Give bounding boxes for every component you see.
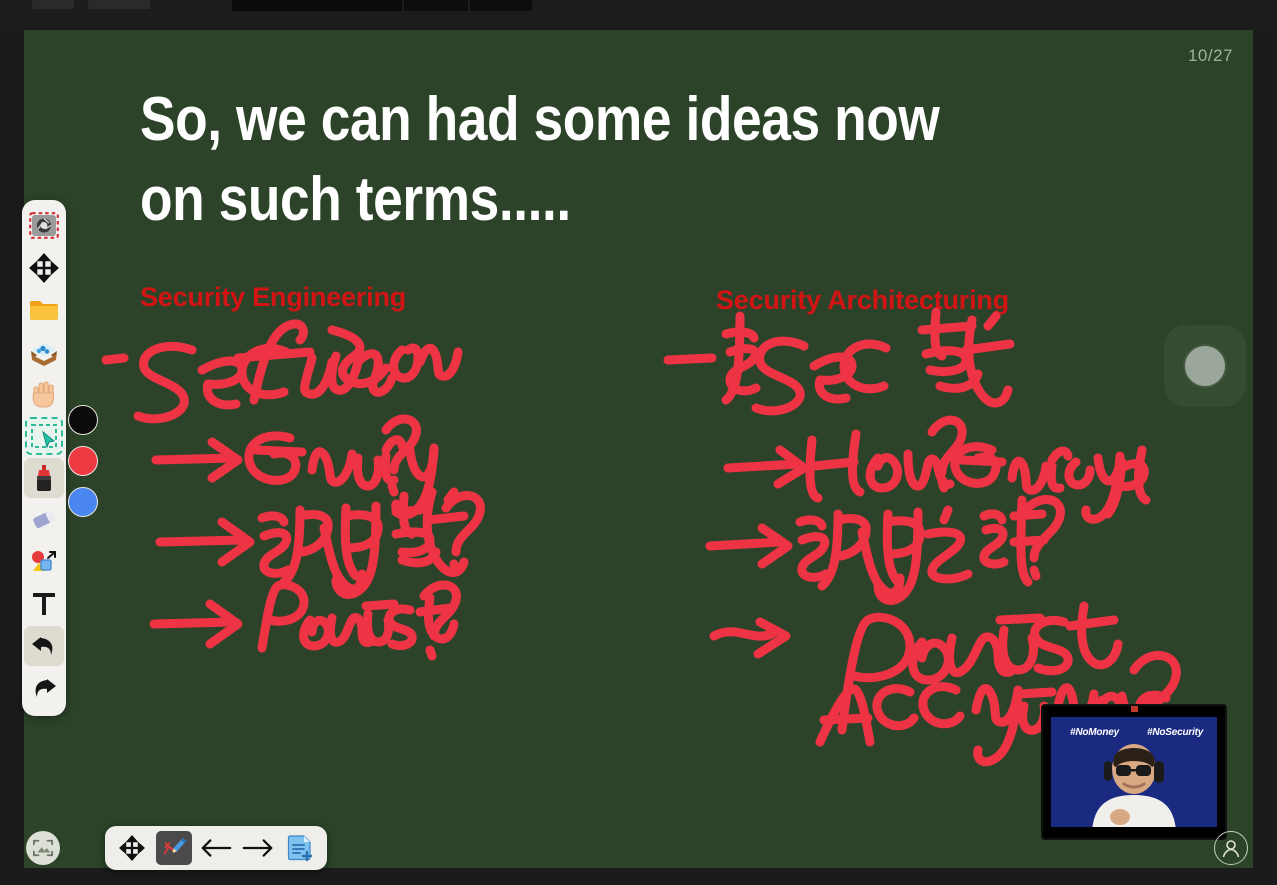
marker-pen-icon [31, 463, 57, 493]
camera-aperture-icon [29, 212, 59, 240]
recording-indicator [1131, 706, 1138, 712]
bottom-toolbar [105, 826, 327, 870]
eraser-tool[interactable] [24, 500, 64, 540]
next-slide-button[interactable] [240, 831, 276, 865]
open-box-icon [28, 338, 60, 366]
move-arrows-icon [119, 835, 145, 861]
app-root: 10/27 So, we can had some ideas now on s… [0, 0, 1277, 885]
speaker-figure [1074, 735, 1194, 827]
topbar-strip-3 [470, 0, 532, 11]
color-swatch-red[interactable] [68, 446, 98, 476]
color-swatch-black[interactable] [68, 405, 98, 435]
marquee-select-icon [30, 423, 58, 449]
page-title: So, we can had some ideas now on such te… [140, 80, 1009, 240]
topbar-chip-2 [88, 0, 150, 9]
topbar-strip-1 [232, 0, 402, 11]
text-t-icon [31, 590, 57, 618]
column-heading-security-architecturing: Security Architecturing [716, 285, 1009, 316]
move-tool-bottom[interactable] [114, 831, 150, 865]
user-avatar-icon [1219, 836, 1243, 860]
arrow-left-icon [199, 835, 233, 861]
eraser-icon [29, 507, 59, 533]
topbar-strip-2 [404, 0, 468, 11]
assets-box-tool[interactable] [24, 332, 64, 372]
arrow-right-icon [241, 835, 275, 861]
video-thumbnail[interactable]: #NoMoney #NoSecurity [1041, 704, 1227, 840]
profile-button[interactable] [1214, 831, 1248, 865]
folder-icon [28, 296, 60, 324]
record-circle-icon [1183, 344, 1227, 388]
marker-pen-tool[interactable] [24, 458, 64, 498]
redo-button[interactable] [24, 668, 64, 708]
move-arrows-icon [29, 253, 59, 283]
shapes-icon [29, 548, 59, 576]
screenshot-capture-tool[interactable] [24, 206, 64, 246]
pan-hand-tool[interactable] [24, 374, 64, 414]
floating-record-button[interactable] [1164, 325, 1246, 407]
image-capture-icon [32, 838, 54, 858]
hand-icon [30, 379, 58, 409]
topbar-chip-1 [32, 0, 74, 9]
video-frame: #NoMoney #NoSecurity [1051, 717, 1217, 827]
text-tool[interactable] [24, 584, 64, 624]
annotate-tool[interactable] [156, 831, 192, 865]
slide-title-line-2: on such terms..... [140, 160, 1009, 240]
color-swatch-blue[interactable] [68, 487, 98, 517]
window-topbar [0, 0, 1277, 28]
move-tool[interactable] [24, 248, 64, 288]
redo-arrow-icon [29, 675, 59, 701]
color-swatch-group [68, 405, 98, 517]
left-toolbar [22, 200, 66, 716]
add-page-button[interactable] [282, 831, 318, 865]
page-indicator: 10/27 [1188, 46, 1233, 66]
open-folder-tool[interactable] [24, 290, 64, 330]
new-document-plus-icon [286, 834, 314, 862]
column-heading-security-engineering: Security Engineering [140, 282, 406, 313]
shapes-tool[interactable] [24, 542, 64, 582]
slide-title-line-1: So, we can had some ideas now [140, 80, 1009, 160]
select-tool[interactable] [24, 416, 64, 456]
previous-slide-button[interactable] [198, 831, 234, 865]
pencil-annotate-icon [161, 835, 187, 861]
undo-button[interactable] [24, 626, 64, 666]
undo-arrow-icon [29, 633, 59, 659]
screenshot-button[interactable] [26, 831, 60, 865]
